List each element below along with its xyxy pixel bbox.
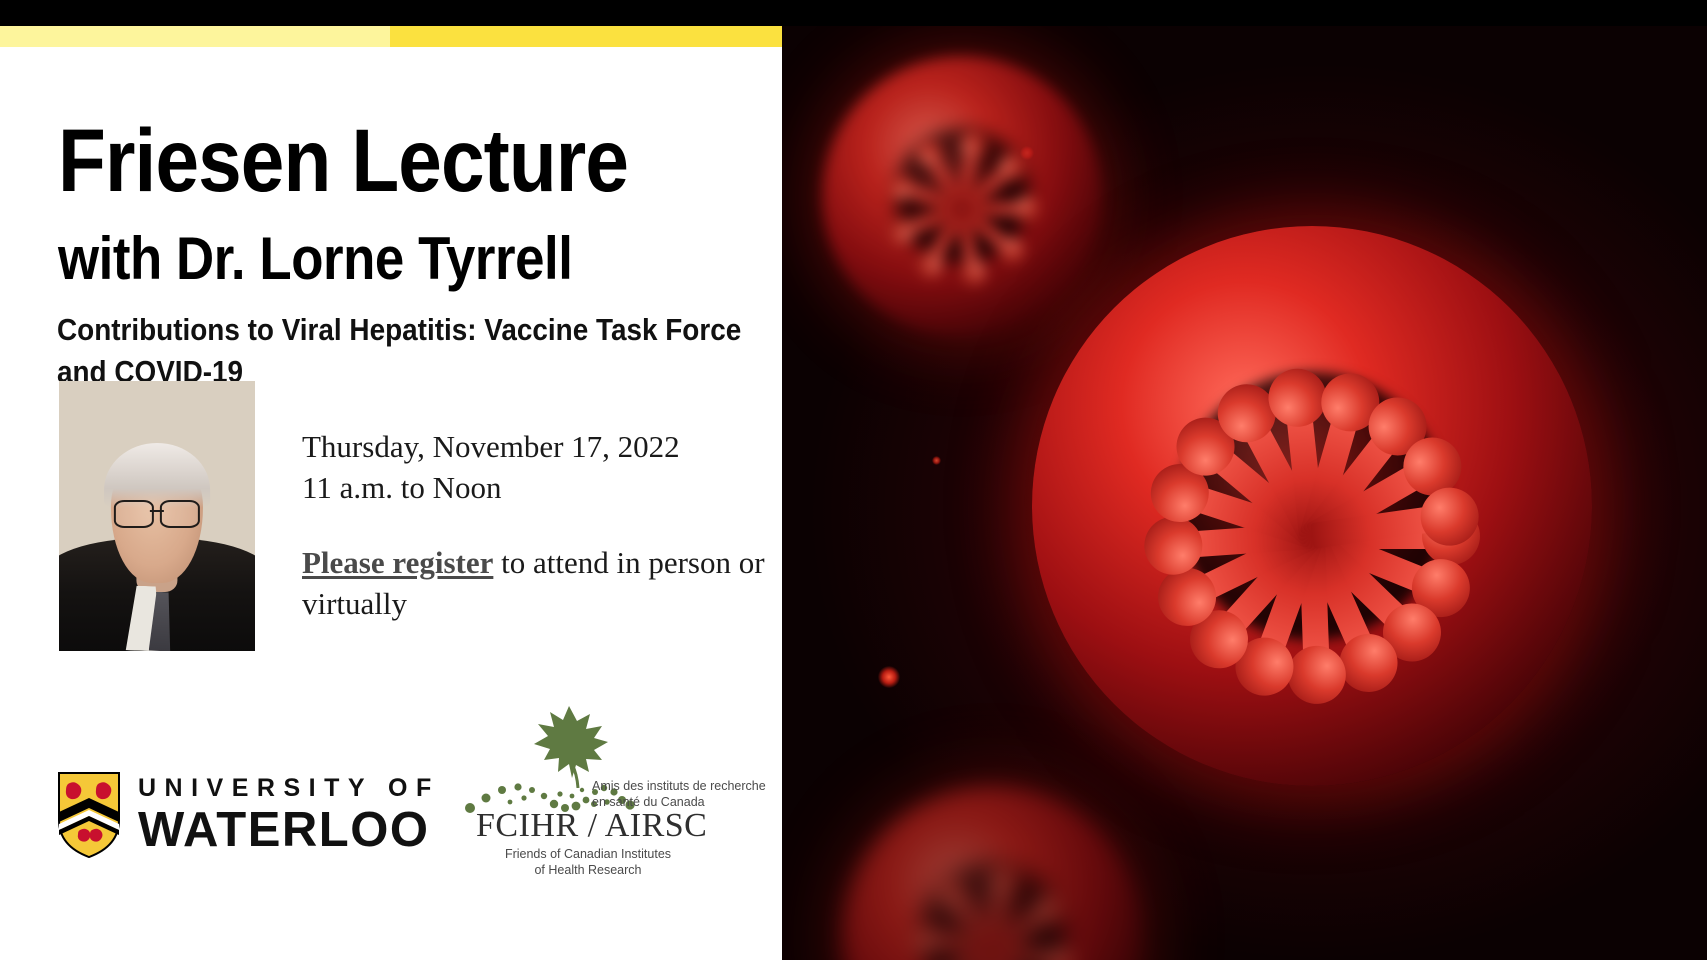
event-details: Thursday, November 17, 2022 11 a.m. to N… (302, 427, 782, 625)
accent-segment-bright-yellow (390, 26, 782, 47)
fcihr-english-text: Friends of Canadian Institutes of Health… (438, 846, 738, 878)
ambient-glow-1 (878, 666, 900, 688)
register-link[interactable]: Please register (302, 545, 493, 580)
event-registration: Please register to attend in person or v… (302, 543, 782, 625)
glasses-lens-right (160, 500, 200, 528)
waterloo-shield-icon (58, 772, 120, 858)
university-of-waterloo-logo: UNIVERSITY OF WATERLOO (58, 772, 440, 858)
page-title: Friesen Lecture (58, 119, 628, 203)
accent-segment-pale-yellow (0, 26, 390, 47)
glasses-lens-left (114, 500, 154, 528)
fcihr-airsc-logo: Amis des instituts de recherche en santé… (432, 702, 752, 862)
speaker-portrait (59, 381, 255, 651)
top-black-bar (0, 0, 1707, 26)
event-date: Thursday, November 17, 2022 (302, 427, 782, 468)
left-content-panel: Friesen Lecture with Dr. Lorne Tyrrell C… (0, 47, 782, 960)
fcihr-wordmark: FCIHR / AIRSC (476, 807, 707, 845)
fcihr-french-text: Amis des instituts de recherche en santé… (592, 778, 766, 810)
virion-main (1032, 226, 1592, 786)
fcihr-english-line1: Friends of Canadian Institutes (438, 846, 738, 862)
coronavirus-image (782, 26, 1707, 960)
ambient-glow-3 (932, 456, 941, 465)
event-datetime: Thursday, November 17, 2022 11 a.m. to N… (302, 427, 782, 509)
fcihr-english-line2: of Health Research (438, 862, 738, 878)
speaker-name: with Dr. Lorne Tyrrell (58, 229, 573, 289)
waterloo-wordmark: UNIVERSITY OF WATERLOO (138, 776, 440, 855)
waterloo-wordmark-line2: WATERLOO (138, 806, 440, 855)
fcihr-french-line1: Amis des instituts de recherche (592, 778, 766, 794)
poster-root: Friesen Lecture with Dr. Lorne Tyrrell C… (0, 0, 1707, 960)
waterloo-wordmark-line1: UNIVERSITY OF (138, 776, 440, 801)
portrait-glasses (114, 500, 200, 524)
event-time: 11 a.m. to Noon (302, 468, 782, 509)
glasses-bridge (150, 510, 164, 512)
